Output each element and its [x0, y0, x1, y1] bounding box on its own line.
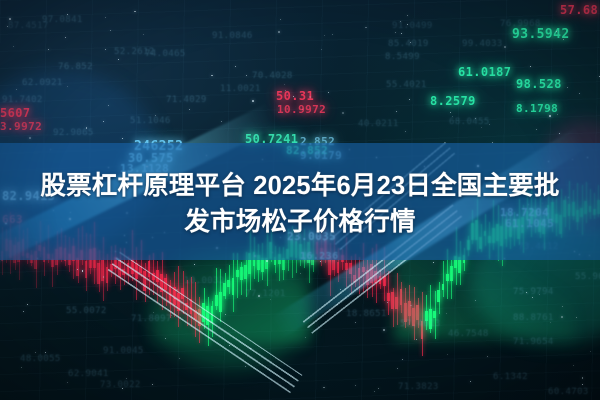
background-star — [383, 329, 385, 331]
background-star — [489, 124, 490, 125]
background-star — [29, 137, 31, 139]
background-star — [27, 304, 28, 305]
background-star — [320, 261, 321, 262]
background-star — [378, 388, 379, 389]
background-star — [152, 384, 154, 386]
background-star — [176, 289, 178, 291]
background-star — [433, 262, 434, 263]
background-star — [536, 129, 537, 130]
background-star — [165, 338, 166, 339]
background-star — [108, 105, 109, 106]
background-star — [252, 100, 254, 102]
background-star — [171, 315, 172, 316]
background-star — [582, 377, 584, 379]
background-star — [396, 111, 397, 112]
background-star — [450, 112, 451, 113]
background-star — [103, 276, 105, 278]
background-star — [447, 354, 448, 355]
background-star — [280, 19, 281, 20]
background-star — [405, 131, 406, 132]
background-star — [194, 264, 195, 265]
background-star — [526, 292, 527, 293]
background-star — [446, 313, 447, 314]
background-star — [221, 121, 222, 122]
background-star — [13, 46, 14, 47]
background-star — [532, 297, 533, 298]
background-star — [293, 96, 294, 97]
background-star — [324, 35, 325, 36]
background-star — [105, 49, 106, 50]
background-star — [270, 299, 271, 300]
background-star — [550, 322, 551, 323]
background-star — [355, 322, 356, 323]
background-star — [409, 99, 410, 100]
background-star — [9, 18, 11, 20]
background-star — [250, 348, 251, 349]
background-star — [67, 86, 68, 87]
background-star — [155, 115, 156, 116]
background-star — [179, 358, 180, 359]
background-star — [189, 109, 190, 110]
background-star — [328, 92, 329, 93]
background-star — [105, 17, 106, 18]
background-star — [235, 66, 236, 67]
background-star — [266, 260, 268, 262]
background-star — [21, 367, 22, 368]
background-star — [332, 34, 333, 35]
background-star — [481, 127, 482, 128]
background-star — [539, 294, 540, 295]
background-star — [556, 31, 557, 32]
background-star — [530, 66, 531, 67]
background-star — [309, 96, 311, 98]
background-star — [305, 337, 306, 338]
background-star — [321, 49, 322, 50]
background-star — [211, 75, 213, 77]
background-star — [82, 270, 84, 272]
background-star — [395, 32, 396, 33]
background-star — [579, 93, 580, 94]
background-star — [340, 289, 341, 290]
background-star — [86, 127, 88, 129]
background-star — [246, 75, 247, 76]
background-star — [549, 115, 551, 117]
background-star — [400, 21, 401, 22]
background-star — [225, 314, 226, 315]
background-star — [337, 304, 338, 305]
background-star — [397, 368, 398, 369]
background-star — [452, 116, 453, 117]
background-star — [143, 34, 144, 35]
background-star — [122, 388, 123, 389]
background-star — [300, 273, 301, 274]
background-star — [401, 33, 402, 34]
stock-banner-image: 93.594261.018798.5288.25798.179850.72418… — [0, 0, 600, 400]
background-star — [342, 112, 344, 114]
background-star — [134, 11, 136, 13]
background-star — [563, 39, 564, 40]
background-star — [23, 311, 24, 312]
background-star — [45, 352, 46, 353]
background-star — [355, 385, 356, 386]
background-star — [582, 384, 583, 385]
page-title: 股票杠杆原理平台 2025年6月23日全国主要批 发市场松子价格行情 — [0, 168, 600, 240]
background-star — [561, 316, 563, 318]
background-star — [410, 305, 412, 307]
background-star — [416, 339, 417, 340]
background-star — [562, 306, 563, 307]
background-star — [567, 87, 568, 88]
background-star — [77, 269, 78, 270]
background-star — [67, 382, 68, 383]
background-star — [258, 295, 260, 297]
background-star — [407, 15, 408, 16]
background-star — [559, 133, 560, 134]
background-star — [153, 312, 154, 313]
background-star — [410, 42, 411, 43]
background-star — [229, 345, 230, 346]
background-star — [557, 114, 558, 115]
background-star — [475, 118, 476, 119]
background-star — [374, 391, 375, 392]
background-star — [65, 37, 66, 38]
background-star — [475, 300, 476, 301]
background-star — [118, 59, 119, 60]
background-star — [122, 138, 123, 139]
background-star — [549, 109, 550, 110]
background-star — [284, 84, 285, 85]
background-star — [573, 365, 574, 366]
background-star — [245, 366, 246, 367]
background-star — [174, 298, 175, 299]
background-star — [103, 121, 104, 122]
background-star — [126, 378, 127, 379]
background-star — [35, 352, 36, 353]
background-star — [278, 31, 280, 33]
background-star — [487, 356, 488, 357]
background-star — [302, 109, 303, 110]
title-line-1: 股票杠杆原理平台 2025年6月23日全国主要批 — [0, 168, 600, 204]
background-star — [402, 359, 403, 360]
background-star — [7, 26, 8, 27]
background-star — [117, 266, 119, 268]
background-star — [48, 49, 49, 50]
background-star — [470, 381, 471, 382]
background-star — [576, 317, 577, 318]
background-star — [110, 30, 111, 31]
background-star — [387, 302, 388, 303]
background-star — [16, 89, 17, 90]
background-star — [407, 24, 408, 25]
background-star — [504, 46, 506, 48]
background-star — [590, 351, 591, 352]
background-star — [365, 27, 367, 29]
background-star — [285, 90, 286, 91]
background-star — [323, 387, 325, 389]
background-star — [67, 14, 68, 15]
title-line-2: 发市场松子价格行情 — [0, 204, 600, 240]
